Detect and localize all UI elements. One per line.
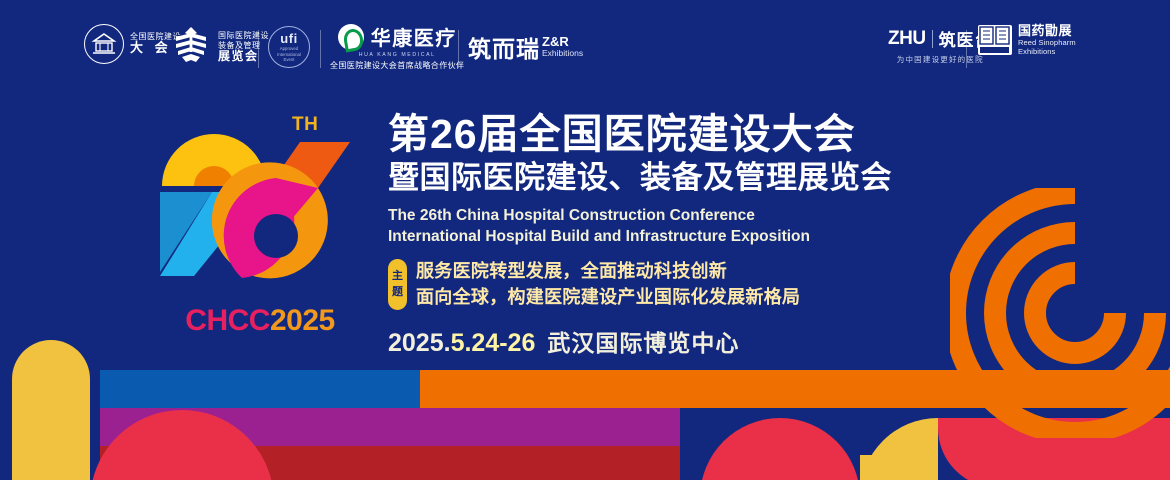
zhuyitai-divider [932,30,933,48]
expo-snowflake-icon [170,24,212,71]
logo-zhuyitai[interactable]: ZHU 筑医台 为中国建设更好的医院 [888,26,993,65]
logo-huakang-medical[interactable]: 华康医疗 HUA KANG MEDICAL 全国医院建设大会首席战略合作伙伴 [330,22,464,71]
main-text-block: 第26届全国医院建设大会 暨国际医院建设、装备及管理展览会 The 26th C… [388,112,948,358]
logo-expo[interactable]: 国际医院建设 装备及管理 展览会 [170,24,269,71]
event-date-year: 2025. [388,329,451,357]
ufi-main-label: ufi [280,31,297,46]
event-title-line2: 暨国际医院建设、装备及管理展览会 [388,160,948,197]
zr-en-line1: Z&R [542,35,583,48]
ufi-seal-icon: ufi Approved International Event [268,26,310,68]
sinopharm-cn-name: 国药勖展 [1018,24,1076,39]
event-date-days: 5.24-26 [451,329,536,357]
deco-quarter-yellow [860,418,938,480]
deco-band-blue [100,370,420,408]
logo-zr-exhibitions[interactable]: 筑而瑞 Z&R Exhibitions [468,30,583,64]
theme-badge: 主 题 [388,259,407,310]
theme-line-1: 服务医院转型发展，全面推动科技创新 [416,259,800,285]
logo-wordmark-prefix: CHCC [185,304,270,337]
sinopharm-en-line2: Exhibitions [1018,48,1076,57]
event-title-line1: 第26届全国医院建设大会 [388,112,948,158]
logo-26-graphic [150,108,366,308]
theme-line-2: 面向全球，构建医院建设产业国际化发展新格局 [416,285,800,311]
chcc-26-logo-mark: TH CHCC2025 [150,108,366,353]
logo-ordinal-suffix: TH [292,114,318,136]
event-subtitle-en-line1: The 26th China Hospital Construction Con… [388,206,948,226]
zhuyitai-en-name: ZHU [888,28,926,50]
huakang-cn-name: 华康医疗 [371,22,457,51]
ufi-sub-line3: Event [284,57,295,63]
event-subtitle-en: The 26th China Hospital Construction Con… [388,206,948,247]
event-subtitle-en-line2: International Hospital Build and Infrast… [388,227,948,247]
deco-pill-yellow [12,340,90,480]
huakang-tagline: 全国医院建设大会首席战略合作伙伴 [330,60,464,71]
theme-section: 主 题 服务医院转型发展，全面推动科技创新 面向全球，构建医院建设产业国际化发展… [388,259,948,310]
logo-wordmark: CHCC2025 [160,304,360,338]
logo-ufi-approved-event[interactable]: ufi Approved International Event [268,26,310,68]
theme-badge-char1: 主 [392,269,403,285]
logo-separator-2 [320,30,321,68]
logo-wordmark-year: 2025 [270,304,335,337]
huakang-en-name: HUA KANG MEDICAL [359,52,436,58]
zr-cn-name: 筑而瑞 [468,30,540,64]
theme-badge-char2: 题 [392,285,403,301]
partner-logo-strip: 全国医院建设 大 会 国际医院建设 [0,24,1170,76]
event-banner: 全国医院建设 大 会 国际医院建设 [0,0,1170,480]
expo-seal-line3: 展览会 [218,50,269,64]
deco-circle-red-middle [700,418,860,480]
expo-seal-line1: 国际医院建设 [218,31,269,40]
zr-en-line2: Exhibitions [542,48,583,58]
logo-reed-sinopharm[interactable]: 国药勖展 Reed Sinopharm Exhibitions [978,24,1076,56]
event-venue: 武汉国际博览中心 [547,330,739,356]
huakang-leaf-icon [338,24,364,50]
logo-chcc-conference[interactable]: 全国医院建设 大 会 [84,24,181,64]
sinopharm-emblem-icon [978,25,1012,55]
chcc-seal-icon [84,24,124,64]
zhuyitai-tagline: 为中国建设更好的医院 [897,54,984,65]
date-and-venue: 2025.5.24-26武汉国际博览中心 [388,324,948,358]
deco-concentric-c-rings [950,188,1170,438]
